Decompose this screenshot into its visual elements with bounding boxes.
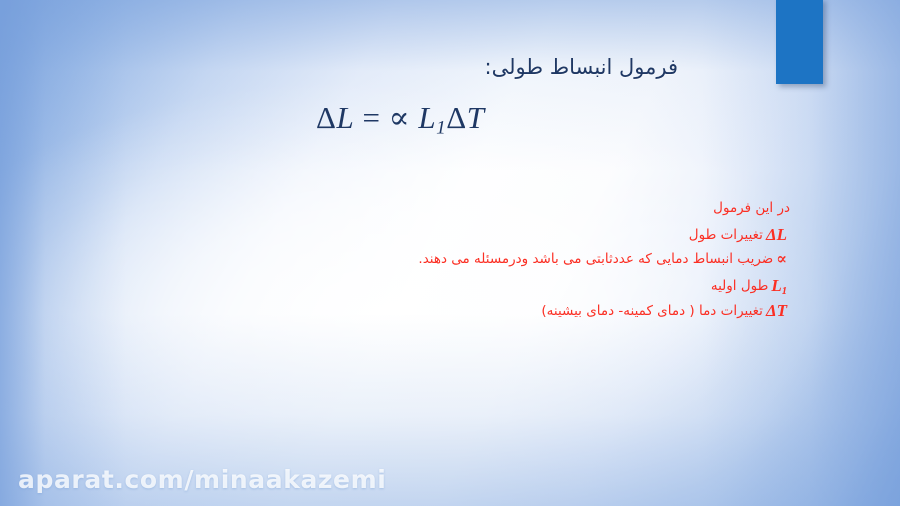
- formula-var-T: T: [467, 100, 485, 135]
- formula-delta-lhs: Δ: [316, 100, 336, 135]
- legend-row-delta-l: ΔLتغییرات طول: [418, 222, 790, 248]
- formula-var-L-lhs: L: [336, 100, 354, 135]
- legend-text-delta-t: تغییرات دما ( دمای کمینه- دمای بیشینه): [541, 303, 763, 319]
- legend-symbol-t-glyph: T: [777, 301, 787, 320]
- legend-row-alpha: ∝ضریب انبساط دمایی که عددثابتی می باشد و…: [418, 247, 790, 273]
- main-formula: ΔL = ∝ L1ΔT: [316, 100, 484, 139]
- accent-block-decoration: [776, 0, 823, 84]
- slide-canvas: فرمول انبساط طولی: ΔL = ∝ L1ΔT در این فر…: [0, 0, 900, 506]
- formula-alpha-symbol: ∝: [389, 100, 410, 135]
- watermark-text: aparat.com/minaakazemi: [18, 465, 386, 494]
- legend-row-delta-t: ΔTتغییرات دما ( دمای کمینه- دمای بیشینه): [418, 298, 790, 324]
- legend-symbol-l1-glyph: L: [771, 276, 781, 295]
- legend-symbol-delta-t-glyph: Δ: [766, 301, 777, 320]
- legend-intro-row: در این فرمول: [418, 196, 790, 222]
- legend-block: در این فرمول ΔLتغییرات طول ∝ضریب انبساط …: [418, 196, 790, 324]
- legend-symbol-l1-subscript: 1: [782, 285, 787, 296]
- legend-symbol-delta-glyph: Δ: [766, 225, 777, 244]
- legend-row-l1: L1طول اولیه: [418, 273, 790, 299]
- legend-intro-text: در این فرمول: [713, 200, 790, 216]
- legend-symbol-l-glyph: L: [777, 225, 787, 244]
- formula-var-L-rhs: L: [418, 100, 436, 135]
- legend-text-delta-l: تغییرات طول: [689, 227, 763, 243]
- formula-equals: =: [354, 100, 388, 135]
- formula-subscript-1: 1: [436, 117, 446, 138]
- formula-delta-rhs: Δ: [446, 100, 466, 135]
- legend-symbol-delta-l: ΔL: [763, 222, 790, 248]
- slide-title: فرمول انبساط طولی:: [485, 54, 678, 80]
- legend-text-l1: طول اولیه: [711, 278, 769, 294]
- legend-symbol-alpha: ∝: [773, 247, 790, 273]
- legend-text-alpha: ضریب انبساط دمایی که عددثابتی می باشد ود…: [418, 251, 773, 267]
- legend-symbol-delta-t: ΔT: [763, 298, 790, 324]
